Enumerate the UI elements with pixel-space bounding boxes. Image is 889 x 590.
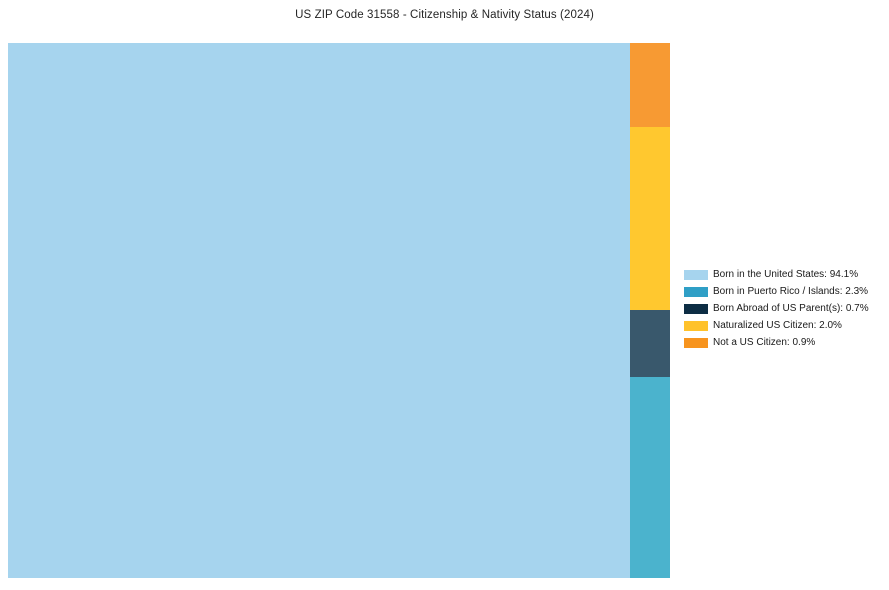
legend-swatch-icon — [684, 338, 708, 348]
legend-swatch-icon — [684, 287, 708, 297]
legend-item[interactable]: Naturalized US Citizen: 2.0% — [684, 317, 882, 334]
legend-item-label: Not a US Citizen: 0.9% — [713, 337, 815, 348]
legend-item[interactable]: Born in the United States: 94.1% — [684, 266, 882, 283]
treemap-tile[interactable] — [630, 377, 670, 578]
legend-swatch-icon — [684, 321, 708, 331]
treemap-tile[interactable] — [8, 43, 630, 578]
legend-item-label: Born in Puerto Rico / Islands: 2.3% — [713, 286, 868, 297]
treemap-tile[interactable] — [630, 310, 670, 377]
legend-item[interactable]: Not a US Citizen: 0.9% — [684, 334, 882, 351]
legend-item[interactable]: Born in Puerto Rico / Islands: 2.3% — [684, 283, 882, 300]
chart-legend: Born in the United States: 94.1% Born in… — [684, 266, 882, 351]
treemap-plot-area — [8, 43, 670, 578]
legend-item-label: Naturalized US Citizen: 2.0% — [713, 320, 842, 331]
legend-swatch-icon — [684, 304, 708, 314]
legend-item[interactable]: Born Abroad of US Parent(s): 0.7% — [684, 300, 882, 317]
legend-item-label: Born in the United States: 94.1% — [713, 269, 858, 280]
chart-title: US ZIP Code 31558 - Citizenship & Nativi… — [0, 9, 889, 21]
treemap-tile[interactable] — [630, 43, 670, 127]
legend-item-label: Born Abroad of US Parent(s): 0.7% — [713, 303, 869, 314]
legend-swatch-icon — [684, 270, 708, 280]
treemap-tile[interactable] — [630, 127, 670, 310]
